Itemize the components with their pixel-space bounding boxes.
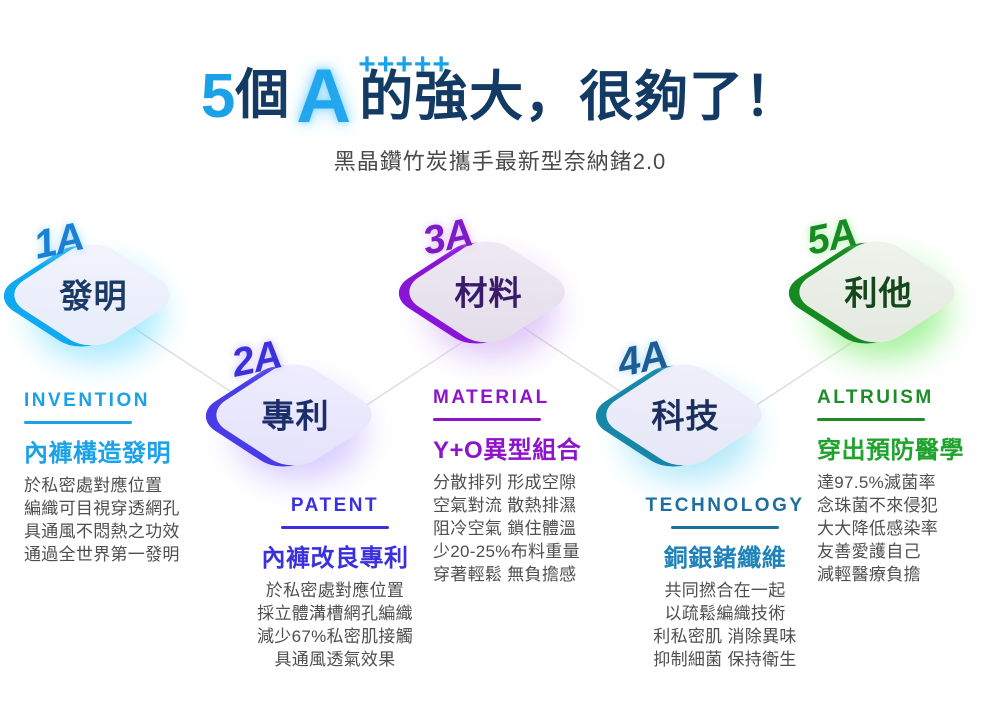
- tile-label-2: 專利: [203, 356, 385, 474]
- step-headline-5: 穿出預防醫學: [817, 430, 1000, 465]
- desc-line: 減輕醫療負擔: [817, 563, 1000, 586]
- step-desc-2: 於私密處對應位置 採立體溝槽網孔編織 減少67%私密肌接觸 具通風透氣效果: [220, 579, 450, 671]
- step-tile-1[interactable]: 發明 1A: [10, 215, 210, 365]
- step-rule-4: [671, 526, 779, 529]
- step-text-5: ALTRUISM 穿出預防醫學 達97.5%滅菌率 念珠菌不來侵犯 大大降低感染…: [817, 387, 1000, 586]
- step-rule-5: [817, 418, 925, 421]
- step-rule-3: [433, 418, 541, 421]
- step-headline-4: 銅銀鍺纖維: [610, 538, 840, 573]
- step-node-1[interactable]: 發明 1A INVENTION 內褲構造發明 於私密處對應位置 編織可目視穿透網…: [10, 215, 210, 365]
- tile-label-3: 材料: [396, 233, 578, 351]
- step-headline-2: 內褲改良專利: [220, 538, 450, 573]
- desc-line: 抑制細菌 保持衛生: [610, 648, 840, 671]
- desc-line: 共同撚合在一起: [610, 579, 840, 602]
- desc-line: 利私密肌 消除異味: [610, 625, 840, 648]
- desc-line: 採立體溝槽網孔編織: [220, 602, 450, 625]
- step-node-4[interactable]: 科技 4A TECHNOLOGY 銅銀鍺纖維 共同撚合在一起 以疏鬆編織技術 利…: [602, 335, 802, 485]
- step-tile-2[interactable]: 專利 2A: [212, 335, 412, 485]
- step-tile-3[interactable]: 材料 3A: [405, 212, 605, 362]
- step-eyebrow-4: TECHNOLOGY: [610, 495, 840, 517]
- step-node-5[interactable]: 利他 5A ALTRUISM 穿出預防醫學 達97.5%滅菌率 念珠菌不來侵犯 …: [795, 212, 995, 362]
- step-desc-4: 共同撚合在一起 以疏鬆編織技術 利私密肌 消除異味 抑制細菌 保持衛生: [610, 579, 840, 671]
- desc-line: 以疏鬆編織技術: [610, 602, 840, 625]
- desc-line: 大大降低感染率: [817, 517, 1000, 540]
- step-eyebrow-5: ALTRUISM: [817, 387, 1000, 409]
- step-node-3[interactable]: 材料 3A MATERIAL Y+O異型組合 分散排列 形成空隙 空氣對流 散熱…: [405, 212, 605, 362]
- step-tile-5[interactable]: 利他 5A: [795, 212, 995, 362]
- step-rule-2: [281, 526, 389, 529]
- desc-line: 減少67%私密肌接觸: [220, 625, 450, 648]
- desc-line: 於私密處對應位置: [220, 579, 450, 602]
- step-eyebrow-2: PATENT: [220, 495, 450, 517]
- step-text-4: TECHNOLOGY 銅銀鍺纖維 共同撚合在一起 以疏鬆編織技術 利私密肌 消除…: [610, 495, 840, 671]
- step-rule-1: [24, 421, 132, 424]
- step-desc-5: 達97.5%滅菌率 念珠菌不來侵犯 大大降低感染率 友善愛護自己 減輕醫療負擔: [817, 471, 1000, 586]
- tile-label-1: 發明: [1, 236, 183, 354]
- desc-line: 念珠菌不來侵犯: [817, 494, 1000, 517]
- desc-line: 友善愛護自己: [817, 540, 1000, 563]
- step-tile-4[interactable]: 科技 4A: [602, 335, 802, 485]
- desc-line: 達97.5%滅菌率: [817, 471, 1000, 494]
- desc-line: 具通風透氣效果: [220, 648, 450, 671]
- infographic-canvas: 5 個 A +++++ 的強大，很夠了！ 黑晶鑽竹炭攜手最新型奈納鍺2.0: [0, 0, 1000, 708]
- step-text-2: PATENT 內褲改良專利 於私密處對應位置 採立體溝槽網孔編織 減少67%私密…: [220, 495, 450, 671]
- step-node-2[interactable]: 專利 2A PATENT 內褲改良專利 於私密處對應位置 採立體溝槽網孔編織 減…: [212, 335, 412, 485]
